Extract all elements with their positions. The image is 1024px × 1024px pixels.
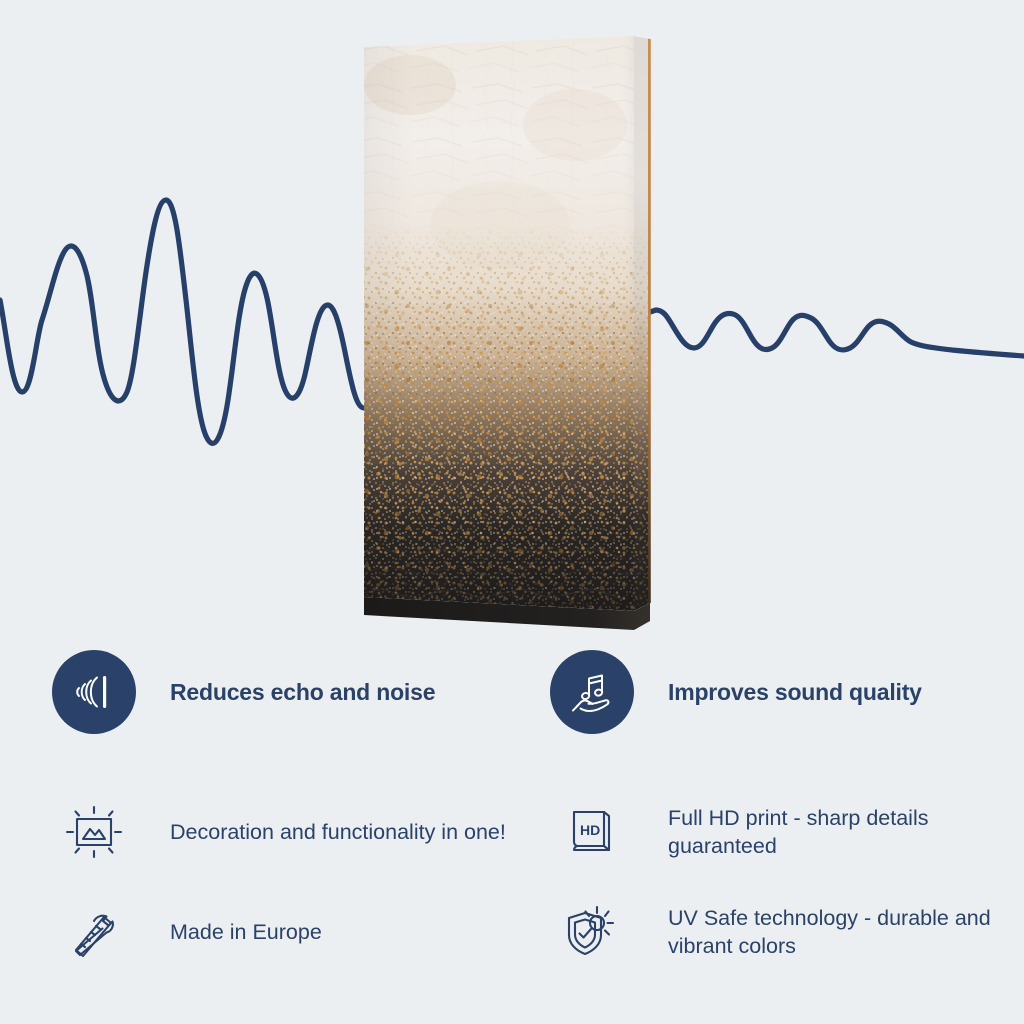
feature-label: Reduces echo and noise bbox=[170, 679, 435, 706]
feature-decoration-and-functionality[interactable]: Decoration and functionality in one! bbox=[52, 790, 506, 874]
canvas-artwork bbox=[350, 25, 670, 650]
hd-label: HD bbox=[580, 822, 600, 838]
ruler-hammer-icon bbox=[52, 890, 136, 974]
feature-full-hd-print[interactable]: HD Full HD print - sharp details guarant… bbox=[550, 790, 998, 874]
feature-reduces-echo-and-noise[interactable]: Reduces echo and noise bbox=[52, 650, 435, 734]
feature-improves-sound-quality[interactable]: Improves sound quality bbox=[550, 650, 922, 734]
shield-sun-check-icon bbox=[550, 890, 634, 974]
canvas-rim-highlight bbox=[648, 39, 651, 604]
feature-label: Made in Europe bbox=[170, 918, 322, 946]
hd-print-icon: HD bbox=[550, 790, 634, 874]
feature-made-in-europe[interactable]: Made in Europe bbox=[52, 890, 322, 974]
feature-list: Reduces echo and noise bbox=[0, 640, 1024, 1024]
feature-uv-safe-technology[interactable]: UV Safe technology - durable and vibrant… bbox=[550, 890, 998, 974]
framed-picture-shine-icon bbox=[52, 790, 136, 874]
feature-label: Improves sound quality bbox=[668, 679, 922, 706]
feature-label: Full HD print - sharp details guaranteed bbox=[668, 804, 998, 861]
sound-waves-panel-icon bbox=[52, 650, 136, 734]
music-note-in-hand-icon bbox=[550, 650, 634, 734]
feature-label: Decoration and functionality in one! bbox=[170, 818, 506, 846]
feature-label: UV Safe technology - durable and vibrant… bbox=[668, 904, 998, 961]
infographic-canvas: Reduces echo and noise bbox=[0, 0, 1024, 1024]
